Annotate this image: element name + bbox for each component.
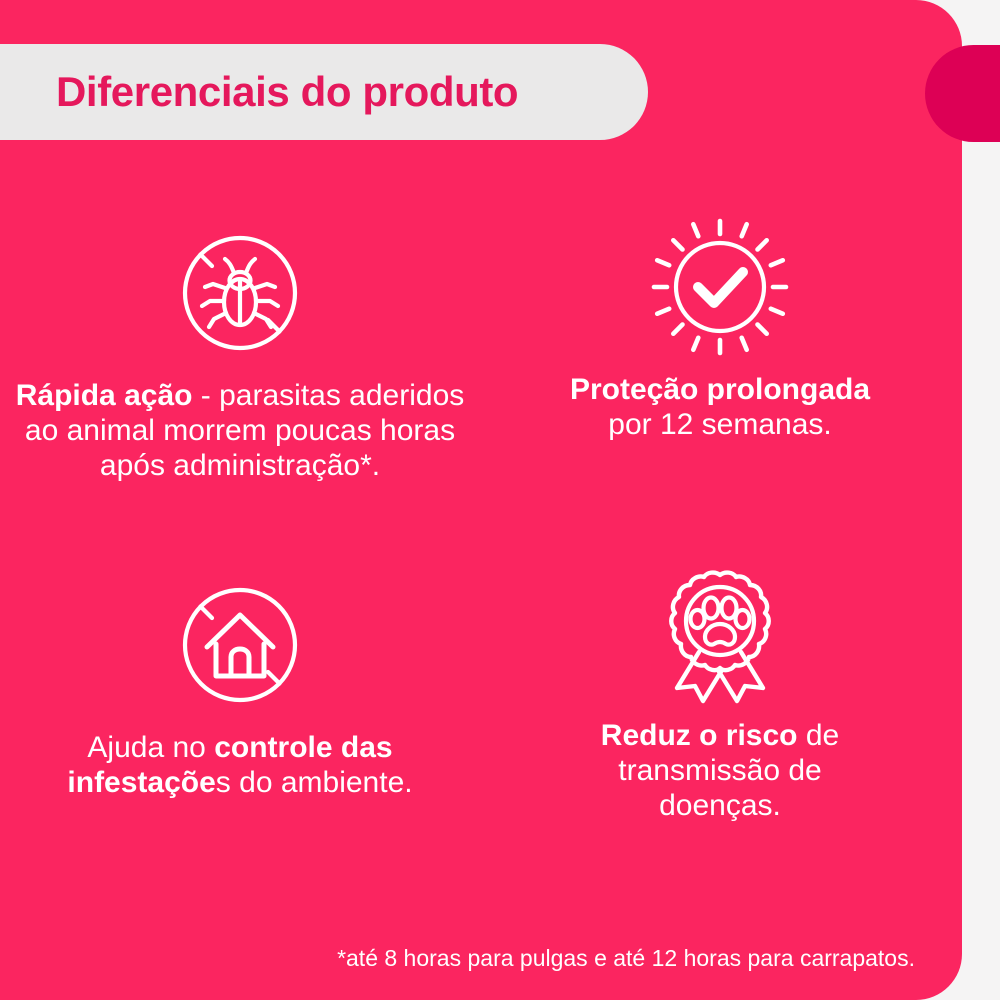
feature-text-controle-infestacoes: Ajuda no controle das infestações do amb… [5, 730, 475, 800]
feature-item-rapida-acao: Rápida ação - parasitas aderidos ao anim… [0, 200, 480, 550]
feature-lead-2: Proteção prolongada [570, 373, 870, 406]
footnote: *até 8 horas para pulgas e até 12 horas … [0, 944, 925, 972]
page-title: Diferenciais do produto [56, 71, 518, 113]
features-grid: Rápida ação - parasitas aderidos ao anim… [0, 200, 960, 900]
feature-lead-4: Reduz o risco [601, 719, 798, 752]
feature-text-reduz-risco: Reduz o risco de transmissão de doenças. [555, 718, 885, 823]
feature-item-reduz-risco: Reduz o risco de transmissão de doenças. [480, 550, 960, 900]
feature-item-protecao-prolongada: Proteção prolongada por 12 semanas. [480, 200, 960, 550]
feature-pre-3: Ajuda no [87, 731, 214, 764]
feature-rest-3: s do ambiente. [216, 766, 413, 799]
title-banner: Diferenciais do produto [0, 44, 648, 140]
sun-check-icon [645, 212, 795, 362]
feature-rest-2: por 12 semanas. [608, 408, 831, 441]
no-bug-icon [165, 218, 315, 368]
feature-text-rapida-acao: Rápida ação - parasitas aderidos ao anim… [5, 378, 475, 483]
feature-item-controle-infestacoes: Ajuda no controle das infestações do amb… [0, 550, 480, 900]
slide-canvas: Diferenciais do produto [0, 0, 1000, 1000]
feature-text-protecao-prolongada: Proteção prolongada por 12 semanas. [555, 372, 885, 442]
paw-award-badge-icon [645, 558, 795, 708]
no-house-icon [165, 570, 315, 720]
feature-lead-1: Rápida ação [16, 379, 193, 412]
